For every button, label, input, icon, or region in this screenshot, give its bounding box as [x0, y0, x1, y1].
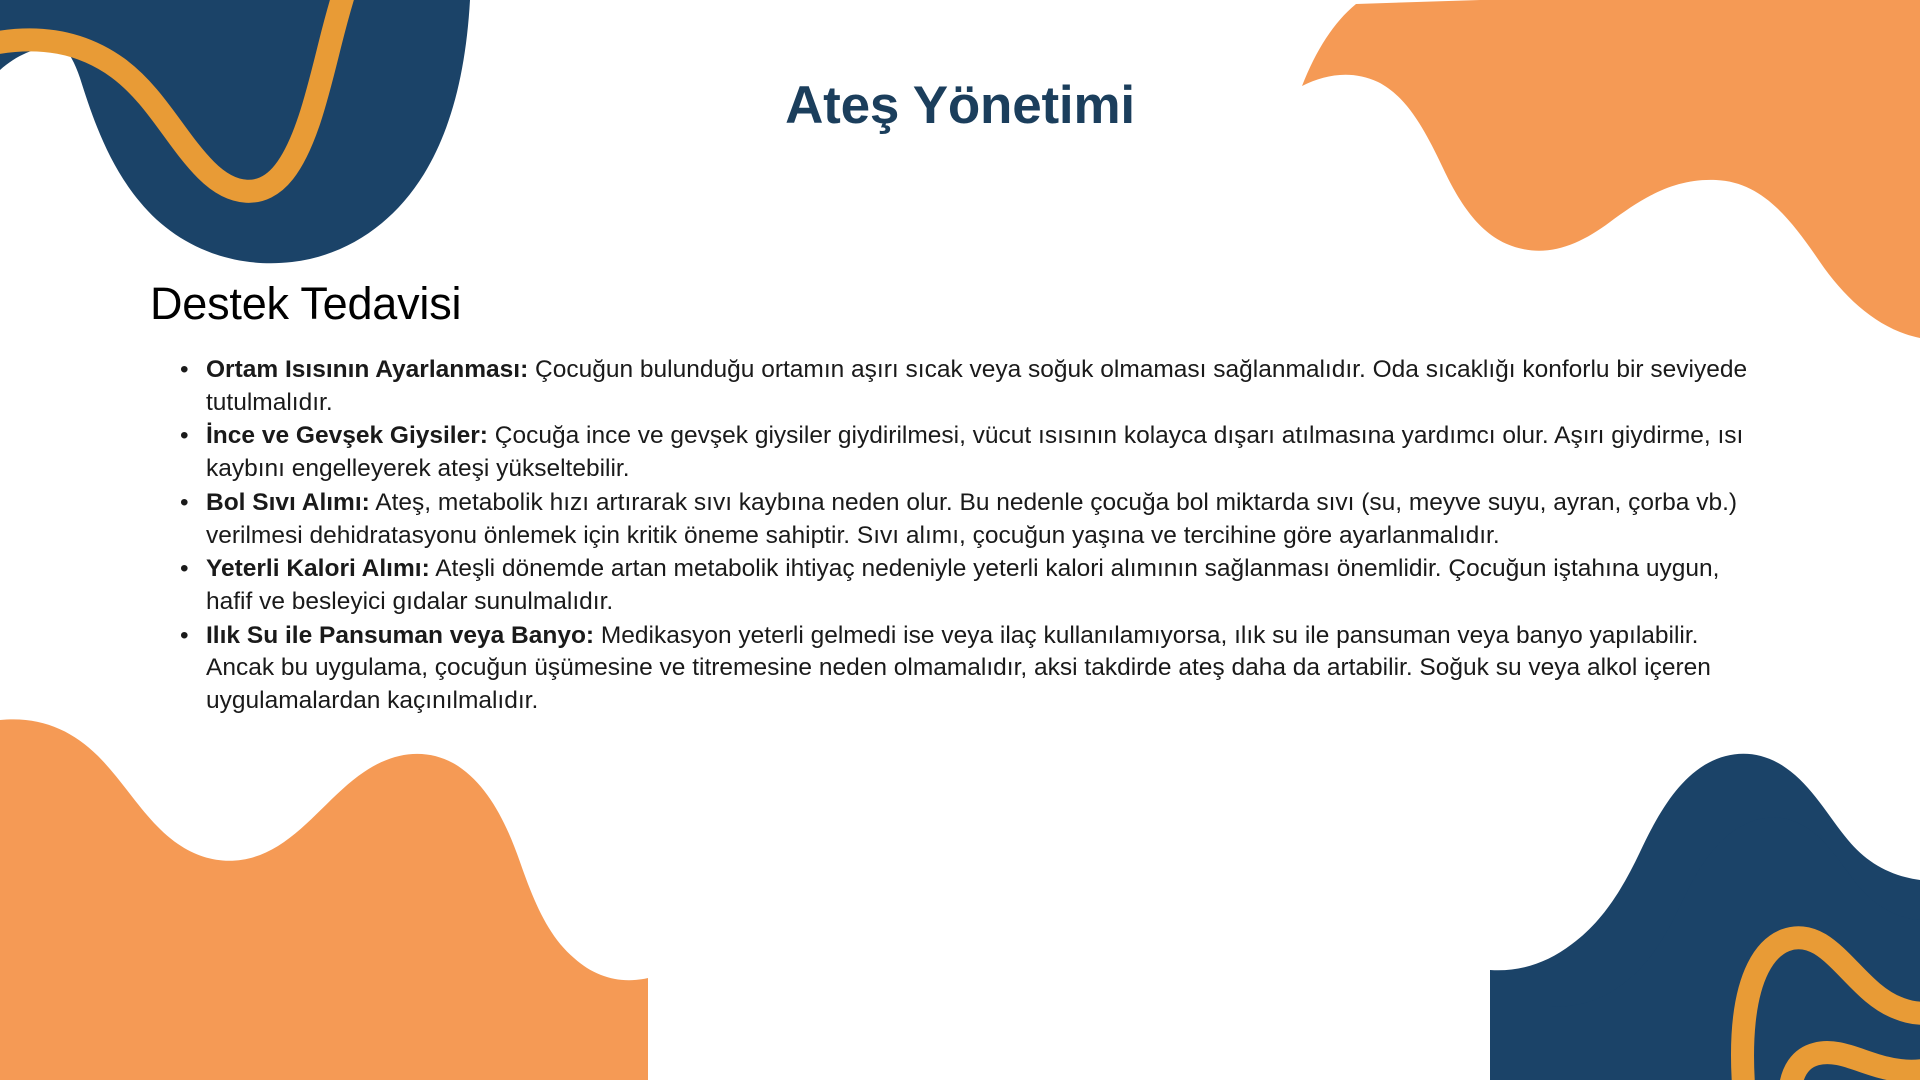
list-item-lead: Bol Sıvı Alımı: — [206, 489, 370, 516]
list-item-text: Ateş, metabolik hızı artırarak sıvı kayb… — [206, 489, 1737, 549]
list-item-lead: Yeterli Kalori Alımı: — [206, 555, 430, 582]
section-heading: Destek Tedavisi — [150, 279, 461, 329]
page-title: Ateş Yönetimi — [0, 76, 1920, 137]
list-item-lead: İnce ve Gevşek Giysiler: — [206, 422, 488, 449]
list-item: •Yeterli Kalori Alımı: Ateşli dönemde ar… — [172, 553, 1757, 619]
bullet-marker-icon: • — [180, 354, 189, 387]
list-item-text: Ateşli dönemde artan metabolik ihtiyaç n… — [206, 555, 1719, 615]
bullet-marker-icon: • — [180, 553, 189, 586]
bullet-marker-icon: • — [180, 420, 189, 453]
list-item-lead: Ilık Su ile Pansuman veya Banyo: — [206, 622, 594, 649]
bullet-marker-icon: • — [180, 620, 189, 653]
list-item: •İnce ve Gevşek Giysiler: Çocuğa ince ve… — [172, 420, 1757, 486]
list-item: •Ortam Isısının Ayarlanması: Çocuğun bul… — [172, 354, 1757, 420]
list-item-lead: Ortam Isısının Ayarlanması: — [206, 356, 528, 383]
list-item: •Bol Sıvı Alımı: Ateş, metabolik hızı ar… — [172, 487, 1757, 553]
list-item: •Ilık Su ile Pansuman veya Banyo: Medika… — [172, 620, 1757, 719]
bullet-marker-icon: • — [180, 487, 189, 520]
bullet-list: •Ortam Isısının Ayarlanması: Çocuğun bul… — [172, 354, 1757, 719]
slide-canvas: Ateş Yönetimi Destek Tedavisi •Ortam Isı… — [0, 0, 1920, 1080]
slide-content: Ateş Yönetimi Destek Tedavisi •Ortam Isı… — [0, 0, 1920, 1080]
